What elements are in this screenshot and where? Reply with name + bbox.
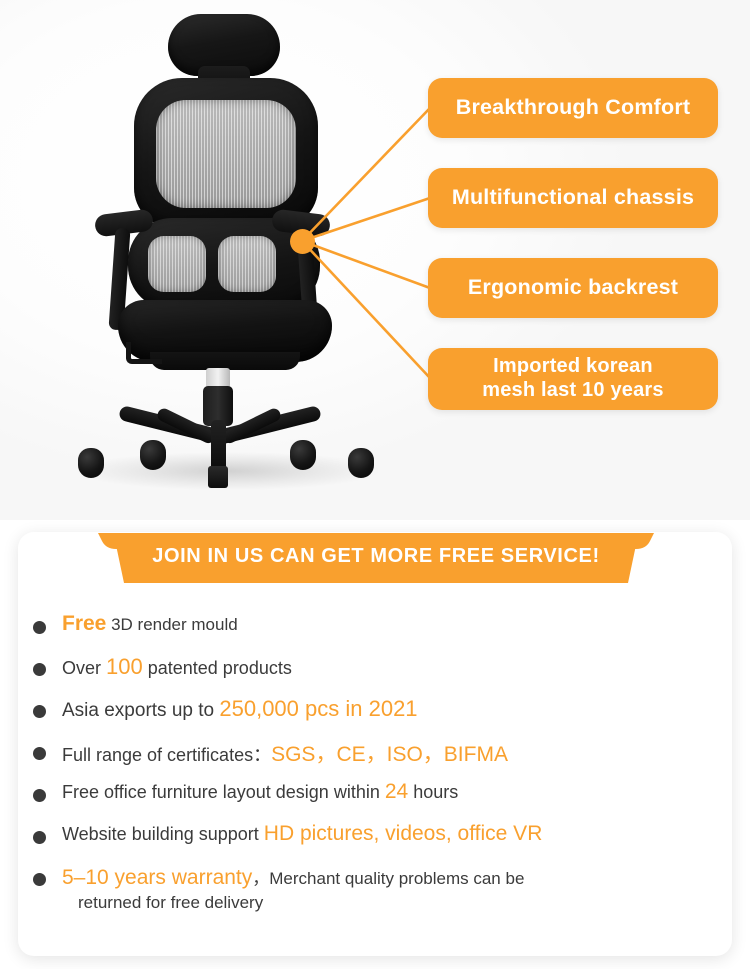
feature-plain: Website building support bbox=[62, 824, 264, 844]
feature-highlight: Free bbox=[62, 612, 106, 635]
feature-badge-imported-korean-mesh[interactable]: Imported korean mesh last 10 years bbox=[428, 348, 718, 410]
feature-text: Full range of certificates：SGS，CE，ISO，BI… bbox=[62, 738, 508, 768]
feature-highlight: SGS，CE，ISO，BIFMA bbox=[271, 743, 508, 766]
feature-badge-label: Ergonomic backrest bbox=[468, 275, 678, 300]
feature-badge-multifunctional-chassis[interactable]: Multifunctional chassis bbox=[428, 168, 718, 228]
feature-plain: Full range of certificates： bbox=[62, 745, 271, 765]
connector-line-1 bbox=[302, 108, 430, 241]
service-feature-list: Free 3D render mould Over 100 patented p… bbox=[30, 612, 720, 915]
feature-plain: ，Merchant quality problems can be bbox=[252, 869, 524, 888]
feature-text: Over 100 patented products bbox=[62, 654, 292, 680]
feature-badge-label-line-2: mesh last 10 years bbox=[482, 379, 664, 403]
feature-text: Asia exports up to 250,000 pcs in 2021 bbox=[62, 696, 418, 722]
feature-text: Free 3D render mould bbox=[62, 612, 238, 636]
feature-text: Website building support HD pictures, vi… bbox=[62, 822, 542, 846]
feature-badge-label-wrap: Imported korean mesh last 10 years bbox=[482, 355, 664, 402]
bullet-dot-icon bbox=[33, 873, 46, 886]
feature-plain: 3D render mould bbox=[106, 615, 237, 634]
product-hero-section: Breakthrough Comfort Multifunctional cha… bbox=[0, 0, 750, 520]
feature-text: 5–10 years warranty，Merchant quality pro… bbox=[62, 864, 524, 915]
list-item: Free office furniture layout design with… bbox=[30, 780, 720, 822]
feature-highlight: 24 bbox=[385, 780, 408, 803]
feature-plain: hours bbox=[408, 782, 458, 802]
feature-highlight: HD pictures, videos, office VR bbox=[264, 822, 543, 845]
list-item: Asia exports up to 250,000 pcs in 2021 bbox=[30, 696, 720, 738]
list-item: Website building support HD pictures, vi… bbox=[30, 822, 720, 864]
feature-plain: Free office furniture layout design with… bbox=[62, 782, 385, 802]
feature-plain: Over bbox=[62, 658, 106, 678]
bullet-dot-icon bbox=[33, 621, 46, 634]
bullet-dot-icon bbox=[33, 663, 46, 676]
bullet-dot-icon bbox=[33, 831, 46, 844]
feature-plain: patented products bbox=[143, 658, 292, 678]
list-item: 5–10 years warranty，Merchant quality pro… bbox=[30, 864, 720, 915]
bullet-dot-icon bbox=[33, 747, 46, 760]
bullet-dot-icon bbox=[33, 789, 46, 802]
service-ribbon-title: JOIN IN US CAN GET MORE FREE SERVICE! bbox=[98, 531, 654, 583]
connector-line-3 bbox=[302, 241, 430, 288]
feature-badge-label: Breakthrough Comfort bbox=[456, 95, 691, 120]
feature-hub-dot bbox=[290, 229, 315, 254]
feature-badge-label: Multifunctional chassis bbox=[452, 185, 694, 210]
feature-highlight: 250,000 pcs in 2021 bbox=[219, 696, 417, 721]
connector-line-4 bbox=[302, 241, 430, 378]
feature-second-line: returned for free delivery bbox=[62, 892, 524, 915]
bullet-dot-icon bbox=[33, 705, 46, 718]
feature-badge-ergonomic-backrest[interactable]: Ergonomic backrest bbox=[428, 258, 718, 318]
feature-highlight: 5–10 years warranty bbox=[62, 866, 252, 889]
feature-badge-label-line-1: Imported korean bbox=[482, 355, 664, 379]
feature-badge-breakthrough-comfort[interactable]: Breakthrough Comfort bbox=[428, 78, 718, 138]
service-ribbon-banner: JOIN IN US CAN GET MORE FREE SERVICE! bbox=[98, 531, 654, 583]
feature-text: Free office furniture layout design with… bbox=[62, 780, 458, 804]
feature-highlight: 100 bbox=[106, 654, 143, 679]
feature-plain: Asia exports up to bbox=[62, 700, 219, 721]
list-item: Free 3D render mould bbox=[30, 612, 720, 654]
list-item: Over 100 patented products bbox=[30, 654, 720, 696]
list-item: Full range of certificates：SGS，CE，ISO，BI… bbox=[30, 738, 720, 780]
